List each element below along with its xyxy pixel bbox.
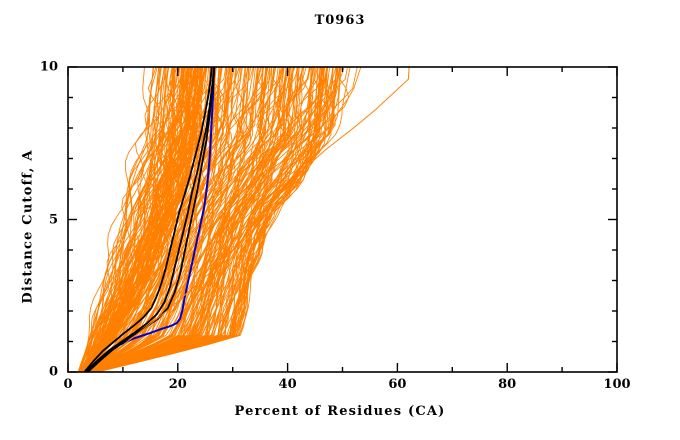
plot-canvas: [0, 0, 680, 440]
x-axis-label: Percent of Residues (CA): [0, 404, 680, 419]
y-tick-label-5: 5: [30, 212, 58, 227]
x-tick-label-60: 60: [388, 377, 406, 392]
x-tick-label-0: 0: [63, 377, 72, 392]
x-tick-label-80: 80: [498, 377, 516, 392]
x-tick-label-100: 100: [603, 377, 630, 392]
plot-figure: T0963 Percent of Residues (CA) Distance …: [0, 0, 680, 440]
x-tick-label-40: 40: [279, 377, 297, 392]
y-tick-label-0: 0: [30, 365, 58, 380]
y-tick-label-10: 10: [30, 60, 58, 75]
curves-layer: [78, 49, 410, 372]
clipped-curves: [78, 49, 410, 372]
x-tick-label-20: 20: [169, 377, 187, 392]
